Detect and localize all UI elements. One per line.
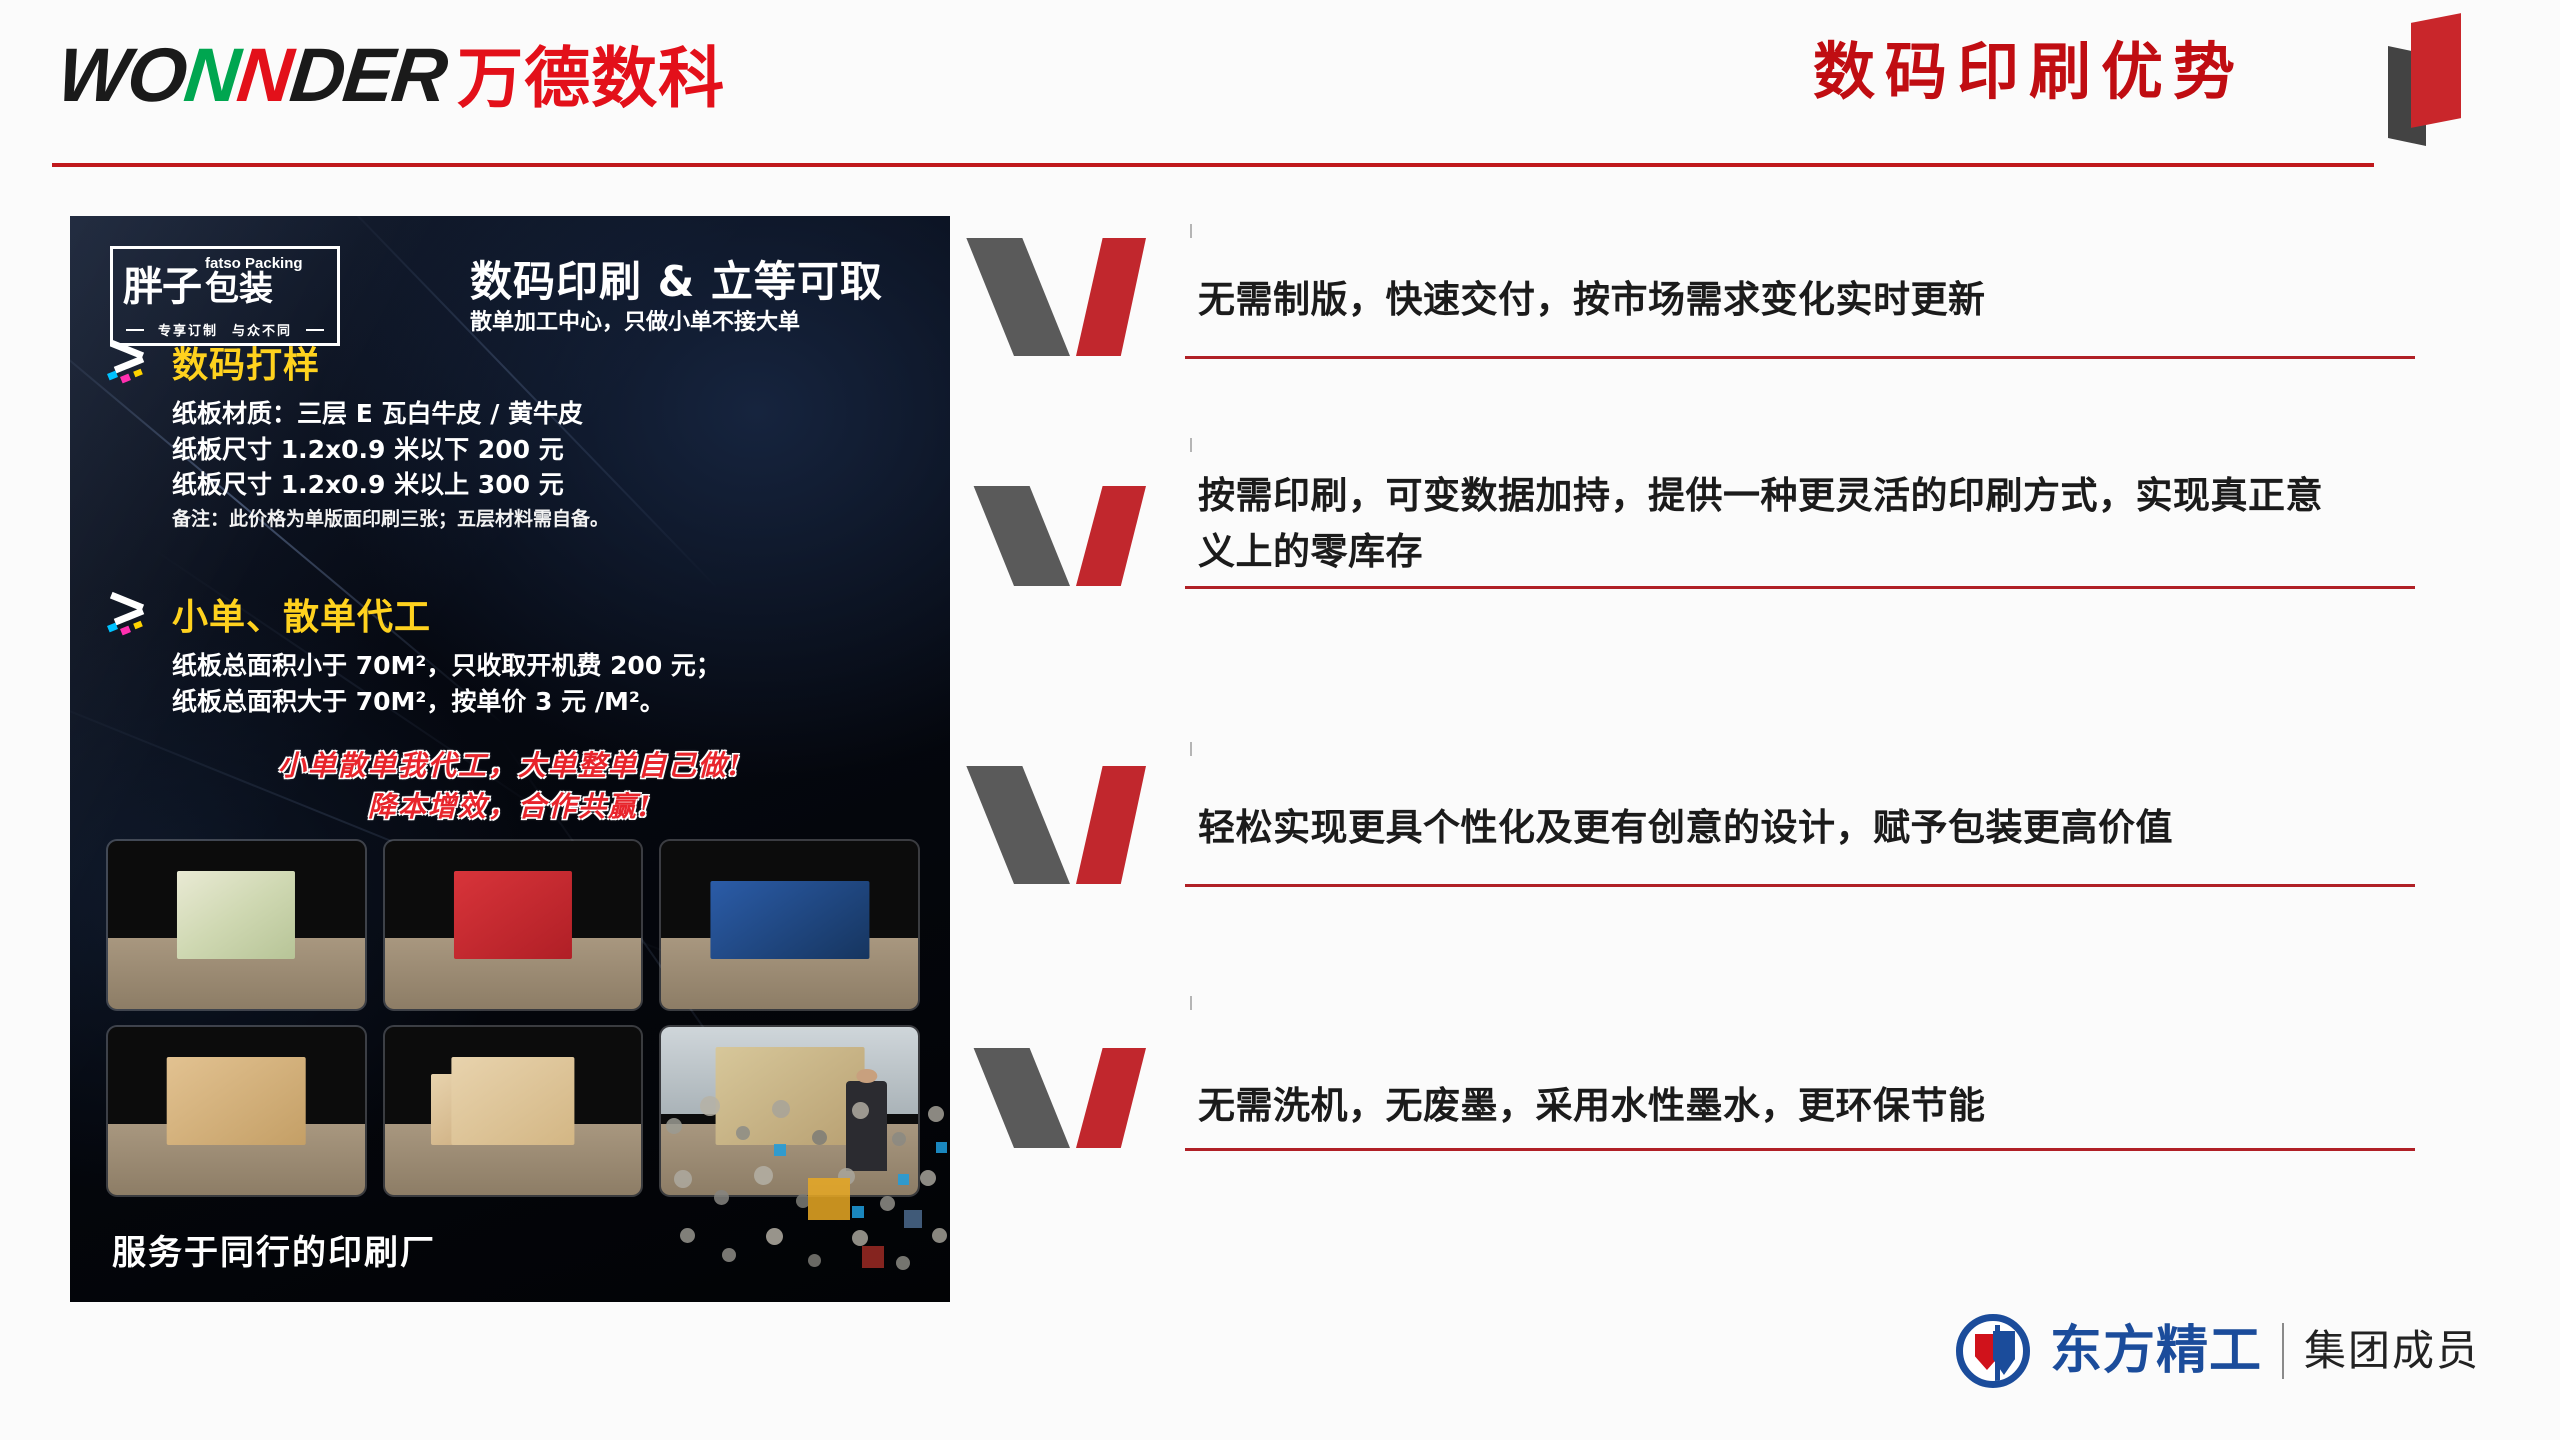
section-title: 小单、散单代工	[172, 600, 431, 636]
slogan-line-2: 降本增效，合作共赢!	[70, 787, 950, 828]
product-photo	[108, 841, 365, 1009]
product-photo	[108, 1027, 365, 1195]
section-line: 纸板尺寸 1.2x0.9 米以上 300 元	[172, 467, 926, 503]
wonder-chinese-name: 万德数科	[457, 46, 725, 112]
poster-logo-tagline: 专享订制 与众不同	[113, 320, 337, 339]
poster-brand-logo: 胖子 fatso Packing 包装 专享订制 与众不同	[110, 246, 340, 346]
wonder-wordmark-part1: WO	[54, 33, 190, 118]
bullet-tick-mark	[1190, 224, 1192, 238]
poster-section-digital-proofing: 数码打样 纸板材质：三层 E 瓦白牛皮 / 黄牛皮 纸板尺寸 1.2x0.9 米…	[106, 344, 926, 533]
poster-subheadline: 散单加工中心，只做小单不接大单	[470, 304, 800, 336]
advantages-bullet-list: 无需制版，快速交付，按市场需求变化实时更新 按需印刷，可变数据加持，提供一种更灵…	[1010, 216, 2430, 1302]
section-body: 纸板总面积小于 70M²，只收取开机费 200 元； 纸板总面积大于 70M²，…	[172, 648, 926, 719]
bullet-chevron-icon	[1010, 486, 1185, 604]
poster-dot-pattern-decoration	[656, 1078, 950, 1298]
tagline-dash-right	[306, 329, 324, 331]
bullet-chevron-icon	[1010, 1048, 1185, 1166]
bullet-tick-mark	[1190, 996, 1192, 1010]
footer-member-label: 集团成员	[2304, 1330, 2480, 1372]
bullet-chevron-icon	[1010, 238, 1185, 356]
bullet-underline	[1185, 884, 2415, 887]
bullet-underline	[1185, 356, 2415, 359]
bullet-text: 轻松实现更具个性化及更有创意的设计，赋予包装更高价值	[1198, 800, 2338, 856]
bullet-text: 按需印刷，可变数据加持，提供一种更灵活的印刷方式，实现真正意义上的零库存	[1198, 468, 2338, 580]
slogan-line-1: 小单散单我代工，大单整单自己做!	[70, 746, 950, 787]
bullet-tick-mark	[1190, 438, 1192, 452]
section-line: 纸板总面积大于 70M²，按单价 3 元 /M²。	[172, 684, 926, 720]
bullet-underline	[1185, 1148, 2415, 1151]
poster-headline: 数码印刷 & 立等可取	[470, 248, 883, 309]
section-heading: 数码打样	[106, 344, 926, 388]
poster-section-small-order-oem: 小单、散单代工 纸板总面积小于 70M²，只收取开机费 200 元； 纸板总面积…	[106, 596, 926, 719]
section-title: 数码打样	[172, 348, 320, 384]
product-photo	[385, 841, 642, 1009]
poster-slogan: 小单散单我代工，大单整单自己做! 降本增效，合作共赢!	[70, 746, 950, 827]
poster-logo-main-text: 胖子	[123, 268, 201, 306]
chevron-arrow-icon	[106, 344, 158, 388]
bullet-chevron-icon	[1010, 766, 1185, 884]
product-photo	[661, 841, 918, 1009]
header-divider-line	[52, 163, 2374, 167]
section-heading: 小单、散单代工	[106, 596, 926, 640]
page-header: WONNDER 万德数科 数码印刷优势	[0, 0, 2560, 175]
bullet-text: 无需洗机，无废墨，采用水性墨水，更环保节能	[1198, 1078, 2338, 1134]
footer-company-name: 东方精工	[2050, 1325, 2262, 1377]
promotional-poster-image: 胖子 fatso Packing 包装 专享订制 与众不同 数码印刷 & 立等可…	[70, 216, 950, 1302]
section-line: 纸板总面积小于 70M²，只收取开机费 200 元；	[172, 648, 926, 684]
section-line: 纸板材质：三层 E 瓦白牛皮 / 黄牛皮	[172, 396, 926, 432]
bullet-tick-mark	[1190, 742, 1192, 756]
dongfang-badge-icon	[1956, 1314, 2030, 1388]
tagline-dash-left	[126, 329, 144, 331]
wonder-wordmark: WONNDER	[54, 38, 449, 114]
product-photo	[385, 1027, 642, 1195]
poster-logo-row: 胖子 fatso Packing 包装	[123, 255, 303, 306]
page-title: 数码印刷优势	[1813, 38, 2245, 106]
poster-footer-text: 服务于同行的印刷厂	[112, 1225, 436, 1274]
section-line: 纸板尺寸 1.2x0.9 米以下 200 元	[172, 432, 926, 468]
bullet-underline	[1185, 586, 2415, 589]
poster-logo-second-text: 包装	[205, 272, 303, 306]
corner-logo-mark	[2370, 10, 2480, 145]
corner-mark-red-shape	[2411, 13, 2461, 128]
section-note: 备注：此价格为单版面印刷三张；五层材料需自备。	[172, 505, 926, 534]
tagline-right-text: 与众不同	[232, 320, 292, 339]
chevron-arrow-icon	[106, 596, 158, 640]
section-body: 纸板材质：三层 E 瓦白牛皮 / 黄牛皮 纸板尺寸 1.2x0.9 米以下 20…	[172, 396, 926, 533]
bullet-text: 无需制版，快速交付，按市场需求变化实时更新	[1198, 272, 2338, 328]
tagline-left-text: 专享订制	[158, 320, 218, 339]
wonder-wordmark-n-red: N	[233, 33, 295, 118]
footer-company-logo: 东方精工 集团成员	[1956, 1314, 2480, 1388]
footer-divider	[2282, 1323, 2284, 1379]
wonder-brand-logo: WONNDER 万德数科	[58, 38, 725, 114]
poster-logo-right-stack: fatso Packing 包装	[205, 255, 303, 306]
wonder-wordmark-part2: DER	[286, 33, 449, 118]
wonder-wordmark-n-green: N	[180, 33, 242, 118]
